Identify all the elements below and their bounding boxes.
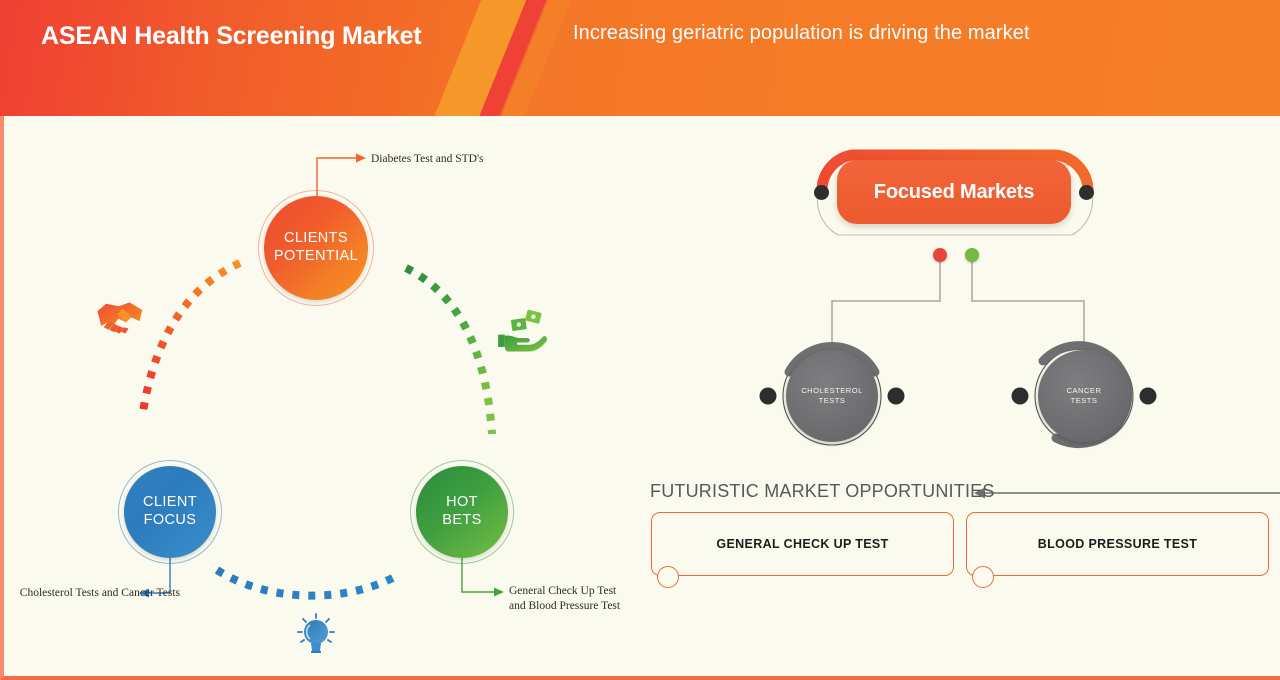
focused-markets-right-dot — [1079, 185, 1094, 200]
header-diagonal-shape-c — [486, 0, 1280, 116]
page-subtitle: Increasing geriatric population is drivi… — [573, 22, 1030, 45]
header-banner: ASEAN Health Screening Market Increasing… — [0, 0, 1280, 116]
opportunity-knob-general-check-up — [657, 566, 679, 588]
node-client-focus[interactable]: CLIENT FOCUS — [124, 466, 216, 558]
focused-markets-left-dot — [814, 185, 829, 200]
infographic-root: ASEAN Health Screening Market Increasing… — [0, 0, 1280, 680]
callout-diabetes-test: Diabetes Test and STD's — [371, 152, 501, 167]
connector-green-dot — [965, 248, 979, 262]
node-clients-potential-label: CLIENTS POTENTIAL — [274, 230, 358, 265]
callout-cholesterol-cancer-tests: Cholesterol Tests and Cancer Tests — [12, 586, 180, 601]
opportunity-blood-pressure-test[interactable]: BLOOD PRESSURE TEST — [966, 512, 1269, 576]
connector-red-dot — [933, 248, 947, 262]
badge-cholesterol-tests[interactable]: CHOLESTEROL TESTS — [786, 350, 878, 442]
focused-markets-pill[interactable]: Focused Markets — [837, 160, 1071, 224]
node-clients-potential[interactable]: CLIENTS POTENTIAL — [264, 196, 368, 300]
focused-markets-group: Focused Markets — [808, 146, 1100, 242]
opportunity-knob-blood-pressure — [972, 566, 994, 588]
node-client-focus-label: CLIENT FOCUS — [143, 494, 197, 529]
node-hot-bets[interactable]: HOT BETS — [416, 466, 508, 558]
badge-cholesterol-tests-label: CHOLESTEROL TESTS — [801, 386, 863, 407]
node-hot-bets-label: HOT BETS — [442, 494, 481, 529]
callout-general-blood-pressure: General Check Up Test and Blood Pressure… — [509, 584, 629, 614]
page-title: ASEAN Health Screening Market — [41, 22, 421, 51]
opportunity-general-check-up-test[interactable]: GENERAL CHECK UP TEST — [651, 512, 954, 576]
badge-cancer-tests-label: CANCER TESTS — [1067, 386, 1102, 407]
badge-cancer-tests[interactable]: CANCER TESTS — [1038, 350, 1130, 442]
futuristic-section-title: FUTURISTIC MARKET OPPORTUNITIES — [650, 481, 995, 502]
